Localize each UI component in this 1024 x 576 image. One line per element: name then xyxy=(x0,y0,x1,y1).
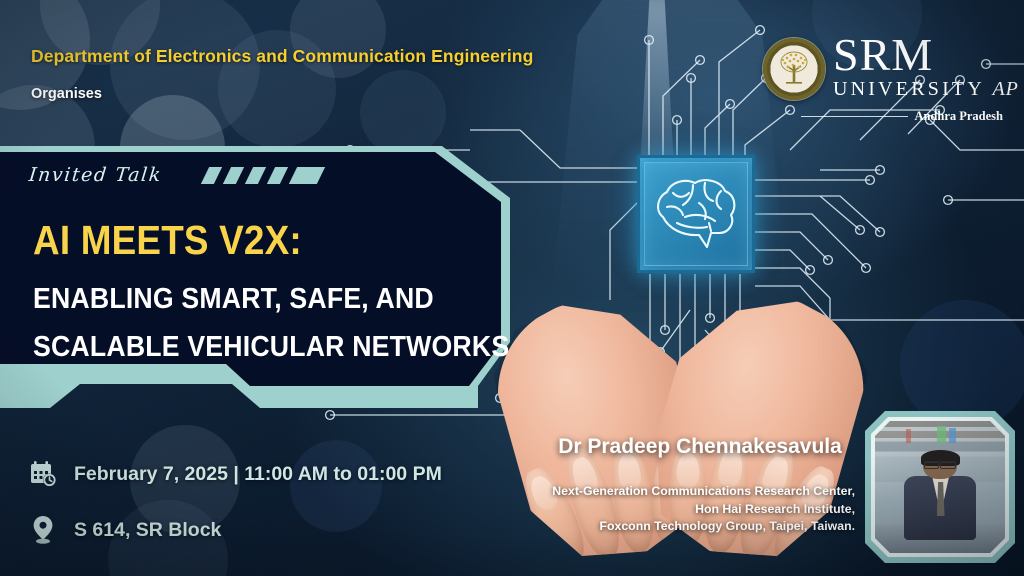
event-poster: Department of Electronics and Communicat… xyxy=(0,0,1024,576)
vignette-overlay xyxy=(0,0,1024,576)
